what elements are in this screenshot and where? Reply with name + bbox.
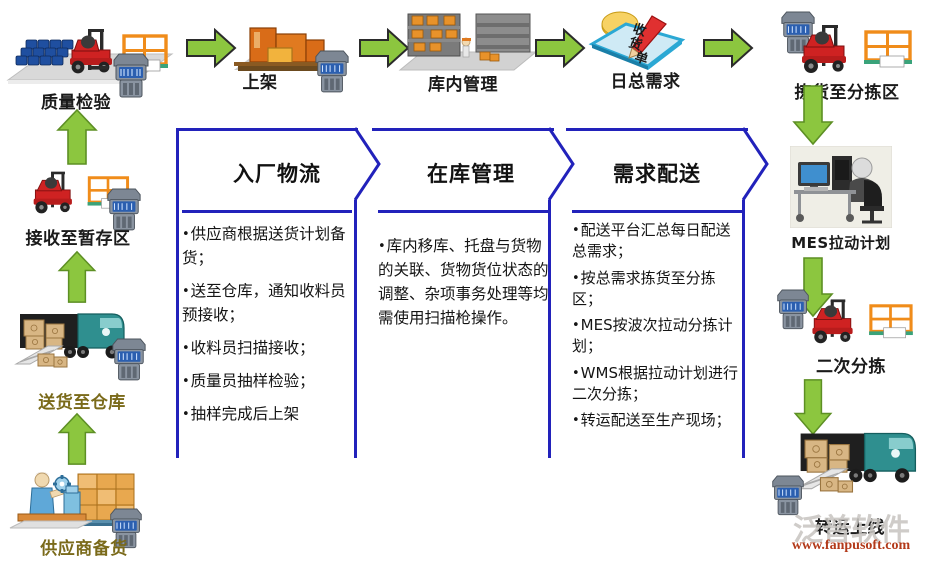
barcode-scanner-icon-5 [110,333,148,383]
node-label-deliver-to-warehouse: 送货至仓库 [12,388,152,413]
node-label-mes-pull-plan: MES拉动计划 [776,232,906,253]
node-label-in-warehouse-mgmt: 库内管理 [403,70,523,95]
title-underline-1 [182,210,352,213]
panel-bullets-in-stock-management: 库内移库、托盘与货物的关联、货物货位状态的调整、杂项事务处理等均需使用扫描枪操作… [378,234,550,339]
bullet-item: 收料员扫描接收； [182,336,354,360]
title-underline-3 [572,210,742,213]
down-arrow-icon-1 [792,84,834,146]
title-underline-2 [378,210,548,213]
bullet-item: WMS根据拉动计划进行二次分拣； [572,363,744,406]
panel-column-in-stock-management[interactable]: 在库管理 库内移库、托盘与货物的关联、货物货位状态的调整、杂项事务处理等均需使用… [370,128,572,458]
diagram-canvas: 质量检验 上架 [0,0,929,568]
scene-mes-pull-plan [790,146,892,228]
bullet-item: 质量员抽样检验； [182,369,354,393]
node-label-receive-to-buffer: 接收至暂存区 [8,224,148,249]
bullet-item: 库内移库、托盘与货物的关联、货物货位状态的调整、杂项事务处理等均需使用扫描枪操作… [378,234,550,330]
watermark-url: www.fanpusoft.com [773,538,929,554]
node-label-secondary-sorting: 二次分拣 [796,352,906,377]
up-arrow-icon-1 [56,108,98,166]
up-arrow-icon-2 [56,250,98,304]
bullet-item: 配送平台汇总每日配送总需求； [572,220,744,263]
column-top-border [372,128,554,131]
barcode-scanner-icon-2 [313,45,351,95]
node-label-daily-demand: 日总需求 [588,67,703,92]
panel-title-demand-distribution: 需求配送 [564,158,750,188]
column-top-border [566,128,748,131]
panel-bullets-demand-distribution: 配送平台汇总每日配送总需求； 按总需求拣货至分拣区； MES按波次拉动分拣计划；… [572,220,744,437]
node-label-supplier-stocking: 供应商备货 [14,534,154,559]
right-arrow-icon-3 [534,28,586,68]
barcode-scanner-icon-8 [770,470,806,518]
panel-title-in-stock-management: 在库管理 [370,158,572,188]
node-label-transfer-to-line: 转运上线 [790,513,910,538]
scene-pick-to-sorting [784,22,922,84]
column-top-border [176,128,358,131]
right-arrow-icon-4 [702,28,754,68]
process-phase-panel: 入厂物流 供应商根据送货计划备货； 送至仓库，通知收料员预接收； 收料员扫描接收… [176,128,770,458]
bullet-item: 供应商根据送货计划备货； [182,222,354,270]
panel-bullets-inbound-logistics: 供应商根据送货计划备货； 送至仓库，通知收料员预接收； 收料员扫描接收； 质量员… [182,222,354,435]
node-label-putaway: 上架 [205,68,315,93]
column-right-border-1 [354,200,357,458]
scene-transfer-to-line [794,418,922,502]
bullet-item: MES按波次拉动分拣计划； [572,315,744,358]
bullet-item: 抽样完成后上架 [182,402,354,426]
panel-column-demand-distribution[interactable]: 需求配送 配送平台汇总每日配送总需求； 按总需求拣货至分拣区； MES按波次拉动… [564,128,770,458]
panel-title-inbound-logistics: 入厂物流 [176,158,378,188]
panel-column-inbound-logistics[interactable]: 入厂物流 供应商根据送货计划备货； 送至仓库，通知收料员预接收； 收料员扫描接收… [176,128,378,458]
scene-secondary-sorting [796,296,922,354]
bullet-item: 送至仓库，通知收料员预接收； [182,279,354,327]
bullet-item: 转运配送至生产现场； [572,410,744,431]
bullet-item: 按总需求拣货至分拣区； [572,268,744,311]
